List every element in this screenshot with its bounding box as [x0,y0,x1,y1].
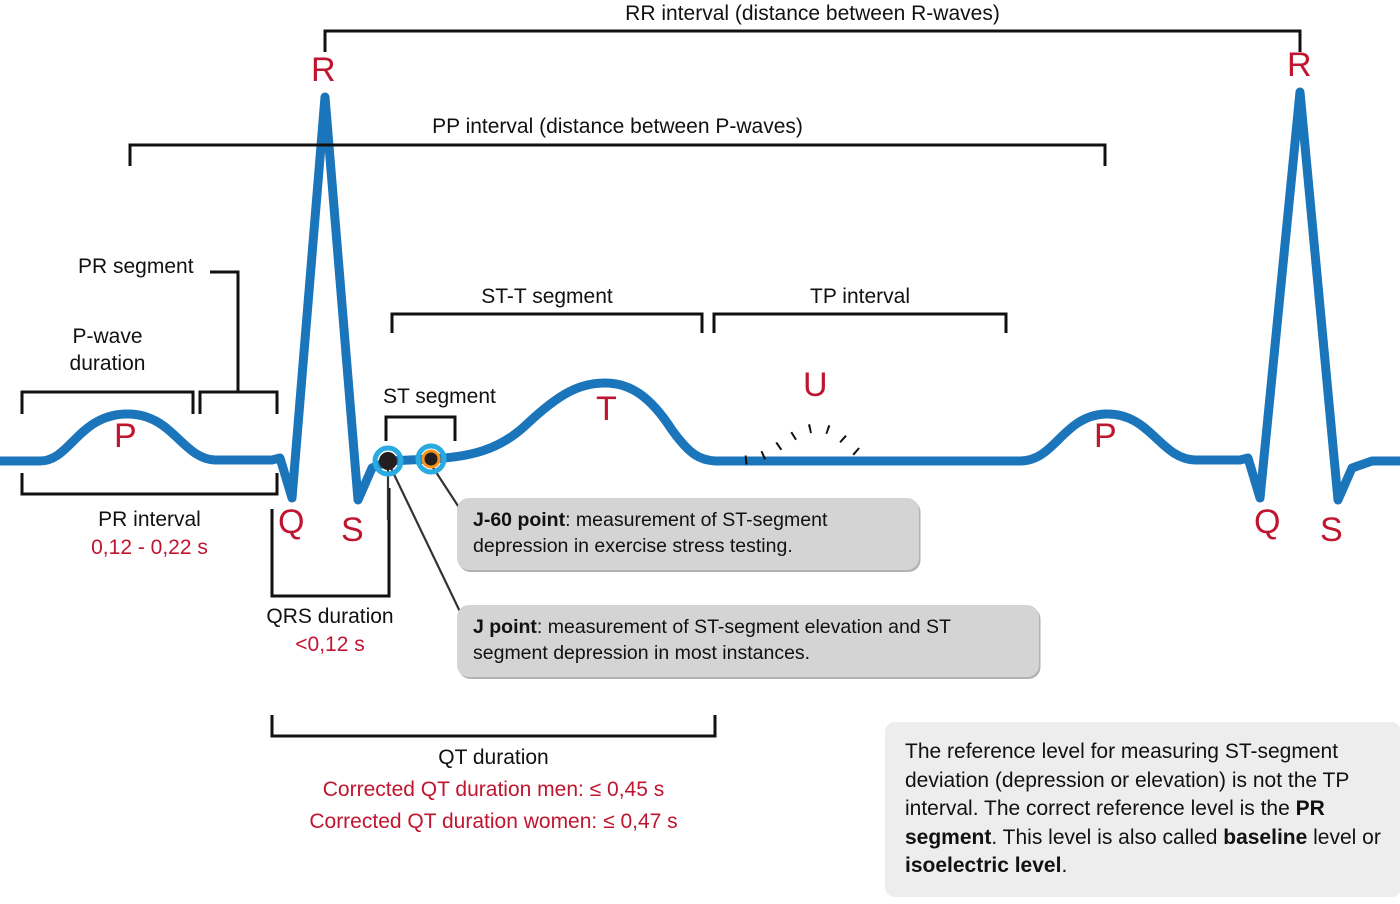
wave-label-q: Q [278,505,304,539]
wave-label-s2: S [1320,513,1343,547]
label-p-wave-duration-line1: P-wave [22,325,193,350]
callout-j60-title: J-60 point [473,509,565,531]
value-qt-corrected-men: Corrected QT duration men: ≤ 0,45 s [212,778,775,803]
label-pr-segment: PR segment [78,255,194,280]
infobox-part2: . This level is also called [991,826,1223,849]
value-pr-interval: 0,12 - 0,22 s [22,536,277,561]
u-wave-dotted [745,428,870,460]
ecg-diagram-canvas: RR interval (distance between R-waves) P… [0,0,1400,904]
bracket-pp-interval [130,145,1105,166]
callout-jpoint-title: J point [473,616,537,638]
value-qt-corrected-women: Corrected QT duration women: ≤ 0,47 s [212,810,775,835]
leader-lines [388,466,464,620]
infobox-part4: . [1061,854,1067,877]
label-pr-interval: PR interval [22,508,277,533]
bracket-p-wave-duration [22,392,193,414]
callout-j60-point[interactable]: J-60 point: measurement of ST-segment de… [457,498,919,570]
bracket-st-t-segment [392,314,702,333]
bracket-pr-interval [22,473,277,494]
wave-label-t: T [596,392,617,426]
j60-point-marker[interactable] [418,446,444,472]
wave-label-r2: R [1287,48,1312,82]
infobox-part3: level or [1307,826,1381,849]
wave-label-u: U [803,368,828,402]
bracket-qt-duration [272,715,715,736]
wave-label-p: P [114,419,137,453]
label-st-segment: ST segment [383,385,496,410]
callout-j-point[interactable]: J point: measurement of ST-segment eleva… [457,605,1039,677]
label-p-wave-duration-line2: duration [22,352,193,377]
value-qrs-duration: <0,12 s [210,633,450,658]
wave-label-s: S [341,513,364,547]
callout-jpoint-text: : measurement of ST-segment elevation an… [473,616,951,664]
label-qrs-duration: QRS duration [210,605,450,630]
wave-label-r: R [311,53,336,87]
label-st-t-segment: ST-T segment [392,285,702,310]
wave-label-q2: Q [1254,505,1280,539]
infobox-bold2: baseline [1223,826,1307,849]
label-rr-interval: RR interval (distance between R-waves) [325,2,1300,27]
infobox-part1: The reference level for measuring ST-seg… [905,740,1349,820]
bracket-st-segment [386,417,455,441]
bracket-rr-interval [325,31,1300,52]
reference-level-infobox: The reference level for measuring ST-seg… [885,722,1400,897]
bracket-tp-interval [714,314,1006,333]
label-pp-interval: PP interval (distance between P-waves) [130,115,1105,140]
wave-label-p2: P [1094,419,1117,453]
label-tp-interval: TP interval [714,285,1006,310]
bracket-pr-segment [200,272,277,414]
label-qt-duration: QT duration [272,746,715,771]
infobox-bold3: isoelectric level [905,854,1061,877]
